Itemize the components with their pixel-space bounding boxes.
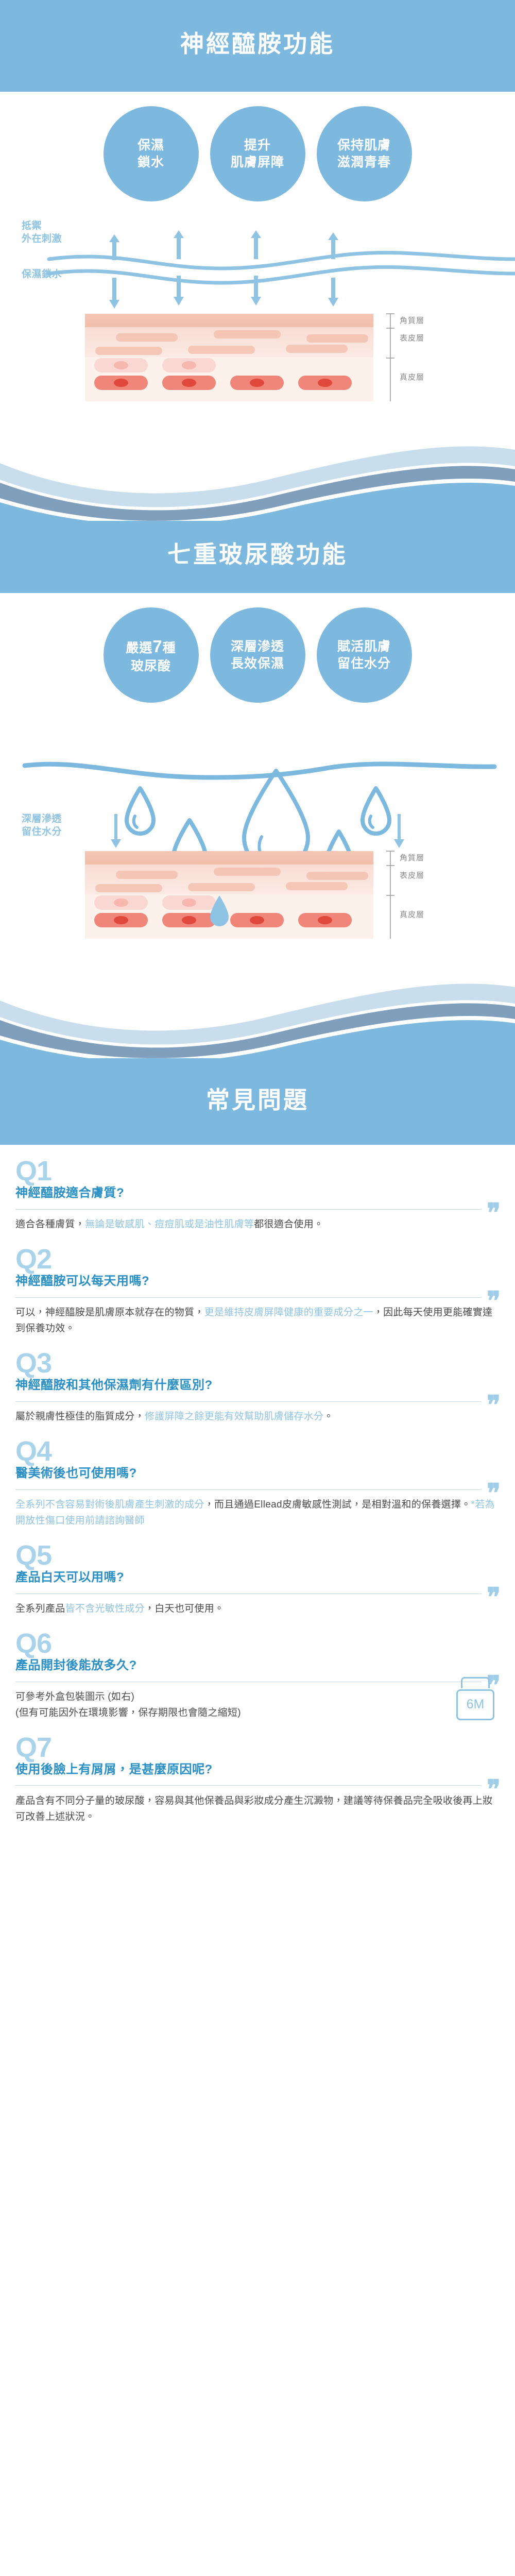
dermis-cell — [162, 376, 216, 390]
faq-divider-row: ❞ — [15, 1782, 500, 1789]
faq-answer-part: 適合各種膚質， — [15, 1219, 85, 1230]
feature-line-1: 賦活肌膚 — [337, 638, 391, 655]
feature-circle-deep-hydration: 深層滲透 長效保濕 — [210, 607, 305, 703]
dermis-nucleus — [182, 899, 196, 907]
jar-body: 6M — [456, 1689, 494, 1720]
dermis-droplet — [202, 891, 243, 927]
jar-period-label: 6M — [467, 1697, 485, 1712]
faq-list: Q1神經醯胺適合膚質?❞適合各種膚質，無論是敏感肌、痘痘肌或是油性肌膚等都很適合… — [0, 1145, 515, 1859]
faq-answer-part: 可以，神經醯胺是肌膚原本就存在的物質， — [15, 1307, 204, 1318]
faq-question-number: Q3 — [15, 1350, 500, 1377]
dermis-cell — [94, 358, 148, 372]
faq-divider-line — [15, 1489, 482, 1490]
skin-layer-dermis — [85, 357, 373, 401]
skin-layer-epidermis — [85, 865, 373, 894]
feature-line-1: 嚴選7種 — [126, 635, 176, 658]
dermis-cell — [298, 376, 352, 390]
faq-question-number: Q6 — [15, 1631, 500, 1657]
faq-answer-part: 無論是敏感肌、痘痘肌或是油性肌膚等 — [85, 1219, 254, 1230]
skin-layer-epidermis — [85, 327, 373, 357]
epidermis-cell — [116, 333, 178, 342]
dermis-cell — [162, 358, 216, 372]
dermis-nucleus — [114, 899, 128, 907]
dermis-nucleus — [182, 361, 196, 369]
defend-arrows-up — [0, 225, 515, 266]
faq-answer-part: 都很適合使用。 — [254, 1219, 323, 1230]
feature-circle-moisture: 保濕 鎖水 — [104, 106, 199, 201]
dermis-nucleus — [114, 916, 128, 924]
faq-answer-text: 適合各種膚質，無論是敏感肌、痘痘肌或是油性肌膚等都很適合使用。 — [15, 1217, 500, 1233]
feature-line-2: 肌膚屏障 — [231, 154, 284, 171]
dermis-nucleus — [250, 916, 264, 924]
faq-divider-line — [15, 1401, 482, 1402]
epidermis-cell — [306, 872, 368, 880]
faq-answer-text: 屬於親膚性極佳的脂質成分，修護屏障之餘更能有效幫助肌膚儲存水分。 — [15, 1409, 500, 1425]
faq-item[interactable]: Q1神經醯胺適合膚質?❞適合各種膚質，無論是敏感肌、痘痘肌或是油性肌膚等都很適合… — [15, 1158, 500, 1233]
faq-divider-line — [15, 1594, 482, 1594]
faq-item[interactable]: Q5產品白天可以用嗎?❞全系列產品皆不含光敏性成分，白天也可使用。 — [15, 1543, 500, 1617]
epidermis-cell — [188, 883, 255, 891]
layer-bracket-lines — [382, 848, 444, 951]
faq-question-text: 神經醯胺適合膚質? — [15, 1185, 500, 1201]
dermis-nucleus — [182, 916, 196, 924]
feature-line-2: 留住水分 — [337, 655, 391, 672]
faq-divider-line — [15, 1682, 482, 1682]
faq-answer-part: ，白天也可使用。 — [145, 1603, 224, 1614]
faq-question-text: 使用後臉上有屑屑，是甚麼原因呢? — [15, 1762, 500, 1777]
feature-line-1: 保持肌膚 — [337, 137, 391, 154]
feature-pre: 嚴選 — [126, 641, 152, 655]
skin-layer-corneum — [85, 851, 373, 865]
section2-banner: 七重玻尿酸功能 — [0, 521, 515, 593]
dermis-nucleus — [114, 379, 128, 387]
epidermis-cell — [286, 882, 348, 890]
feature-line-1: 提升 — [244, 137, 271, 154]
feature-circle-youth: 保持肌膚 滋潤青春 — [317, 106, 412, 201]
epidermis-cell — [214, 868, 281, 876]
epidermis-cell — [188, 346, 255, 354]
faq-question-number: Q7 — [15, 1735, 500, 1761]
epidermis-cell — [306, 334, 368, 343]
faq-divider-row: ❞ — [15, 1294, 500, 1301]
ceramide-skin-diagram: 抵禦 外在刺激 保濕鎖水 — [0, 201, 515, 402]
faq-question-text: 神經醯胺可以每天用嗎? — [15, 1274, 500, 1289]
faq-divider-line — [15, 1785, 482, 1786]
faq-answer-text: 全系列產品皆不含光敏性成分，白天也可使用。 — [15, 1601, 500, 1617]
layer-label-epidermis: 表皮層 — [400, 332, 424, 343]
feature-circle-barrier: 提升 肌膚屏障 — [210, 106, 305, 201]
faq-answer-part: 產品含有不同分子量的玻尿酸，容易與其他保養品與彩妝成分產生沉澱物，建議等待保養品… — [15, 1795, 492, 1822]
feature-line-1: 深層滲透 — [231, 638, 284, 655]
dermis-nucleus — [318, 379, 332, 387]
feature-circle-seven-ha: 嚴選7種 玻尿酸 — [104, 607, 199, 703]
faq-divider-line — [15, 1209, 482, 1210]
faq-divider-row: ❞ — [15, 1678, 500, 1685]
faq-question-text: 產品開封後能放多久? — [15, 1658, 500, 1673]
jar-lid — [461, 1677, 490, 1688]
faq-answer-text: 全系列不含容易對術後肌膚產生刺激的成分，而且通過Ellead皮膚敏感性測試，是相… — [15, 1497, 500, 1529]
dermis-nucleus — [318, 916, 332, 924]
dermis-nucleus — [250, 379, 264, 387]
section1-title: 神經醯胺功能 — [0, 0, 515, 56]
feature-circle-revitalize: 賦活肌膚 留住水分 — [317, 607, 412, 703]
faq-question-number: Q4 — [15, 1438, 500, 1465]
layer-label-corneum: 角質層 — [400, 852, 424, 863]
faq-divider-row: ❞ — [15, 1398, 500, 1405]
faq-answer-part: ，而且通過Ellead皮膚敏感性測試，是相對溫和的保養選擇。 — [204, 1499, 471, 1510]
faq-answer-part: 皆不含光敏性成分 — [65, 1603, 145, 1614]
faq-question-number: Q2 — [15, 1246, 500, 1273]
section2-feature-circles: 嚴選7種 玻尿酸 深層滲透 長效保濕 賦活肌膚 留住水分 — [0, 593, 515, 703]
faq-answer-part: 屬於親膚性極佳的脂質成分， — [15, 1411, 145, 1422]
epidermis-cell — [214, 330, 281, 338]
feature-line-2: 鎖水 — [138, 154, 164, 171]
faq-question-text: 產品白天可以用嗎? — [15, 1570, 500, 1585]
faq-divider-line — [15, 1297, 482, 1298]
layer-bracket-lines — [382, 311, 444, 414]
faq-question-number: Q5 — [15, 1543, 500, 1569]
faq-question-number: Q1 — [15, 1158, 500, 1184]
faq-item[interactable]: Q4醫美術後也可使用嗎?❞全系列不含容易對術後肌膚產生刺激的成分，而且通過Ell… — [15, 1438, 500, 1529]
wave-divider-2 — [0, 940, 515, 1058]
dermis-cell — [94, 376, 148, 390]
skin-layer-corneum — [85, 314, 373, 327]
faq-answer-part: 修護屏障之餘更能有效幫助肌膚儲存水分 — [145, 1411, 323, 1422]
section1-feature-circles: 保濕 鎖水 提升 肌膚屏障 保持肌膚 滋潤青春 — [0, 92, 515, 201]
hyaluronic-skin-diagram: 深層滲透 留住水分 角質層 表皮層 真皮層 — [0, 703, 515, 940]
section2-title: 七重玻尿酸功能 — [0, 521, 515, 566]
faq-answer-text: 產品含有不同分子量的玻尿酸，容易與其他保養品與彩妝成分產生沉澱物，建議等待保養品… — [15, 1793, 500, 1825]
wave-divider-1 — [0, 402, 515, 521]
dermis-cell — [230, 376, 284, 390]
dermis-nucleus — [114, 361, 128, 369]
faq-question-text: 醫美術後也可使用嗎? — [15, 1466, 500, 1481]
dermis-cell — [94, 895, 148, 910]
faq-divider-row: ❞ — [15, 1486, 500, 1493]
faq-banner: 常見問題 — [0, 1058, 515, 1145]
feature-line-1: 保濕 — [138, 137, 164, 154]
epidermis-cell — [286, 345, 348, 353]
layer-label-dermis: 真皮層 — [400, 371, 424, 382]
faq-item[interactable]: Q2神經醯胺可以每天用嗎?❞可以，神經醯胺是肌膚原本就存在的物質，更是維持皮膚屏… — [15, 1246, 500, 1337]
dermis-cell — [298, 913, 352, 927]
faq-item[interactable]: Q3神經醯胺和其他保濕劑有什麼區別?❞屬於親膚性極佳的脂質成分，修護屏障之餘更能… — [15, 1350, 500, 1425]
layer-label-dermis: 真皮層 — [400, 909, 424, 920]
faq-item[interactable]: Q7使用後臉上有屑屑，是甚麼原因呢?❞產品含有不同分子量的玻尿酸，容易與其他保養… — [15, 1735, 500, 1825]
epidermis-cell — [116, 871, 178, 879]
feature-number: 7 — [152, 637, 162, 656]
epidermis-cell — [95, 884, 162, 892]
faq-answer-part: 全系列不含容易對術後肌膚產生刺激的成分 — [15, 1499, 204, 1510]
faq-answer-text: 可參考外盒包裝圖示 (如右) (但有可能因外在環境影響，保存期限也會隨之縮短) — [15, 1689, 500, 1721]
dermis-nucleus — [182, 379, 196, 387]
section1-banner: 神經醯胺功能 — [0, 0, 515, 92]
faq-divider-row: ❞ — [15, 1590, 500, 1597]
layer-label-epidermis: 表皮層 — [400, 870, 424, 880]
jar-6m-icon: 6M — [456, 1677, 494, 1720]
faq-answer-text: 可以，神經醯胺是肌膚原本就存在的物質，更是維持皮膚屏障健康的重要成分之一，因此每… — [15, 1305, 500, 1337]
dermis-cell — [94, 913, 148, 927]
faq-divider-row: ❞ — [15, 1206, 500, 1213]
faq-item[interactable]: Q6產品開封後能放多久?❞可參考外盒包裝圖示 (如右) (但有可能因外在環境影響… — [15, 1631, 500, 1721]
feature-line-2: 玻尿酸 — [131, 658, 171, 675]
epidermis-cell — [95, 347, 162, 355]
feature-post: 種 — [163, 641, 176, 655]
faq-answer-part: 更是維持皮膚屏障健康的重要成分之一 — [204, 1307, 373, 1318]
faq-title: 常見問題 — [0, 1058, 515, 1112]
feature-line-2: 滋潤青春 — [337, 154, 391, 171]
faq-question-text: 神經醯胺和其他保濕劑有什麼區別? — [15, 1378, 500, 1393]
layer-label-corneum: 角質層 — [400, 315, 424, 326]
feature-line-2: 長效保濕 — [231, 655, 284, 672]
faq-answer-part: 。 — [323, 1411, 333, 1422]
faq-answer-part: 可參考外盒包裝圖示 (如右) (但有可能因外在環境影響，保存期限也會隨之縮短) — [15, 1691, 241, 1718]
faq-answer-part: 全系列產品 — [15, 1603, 65, 1614]
